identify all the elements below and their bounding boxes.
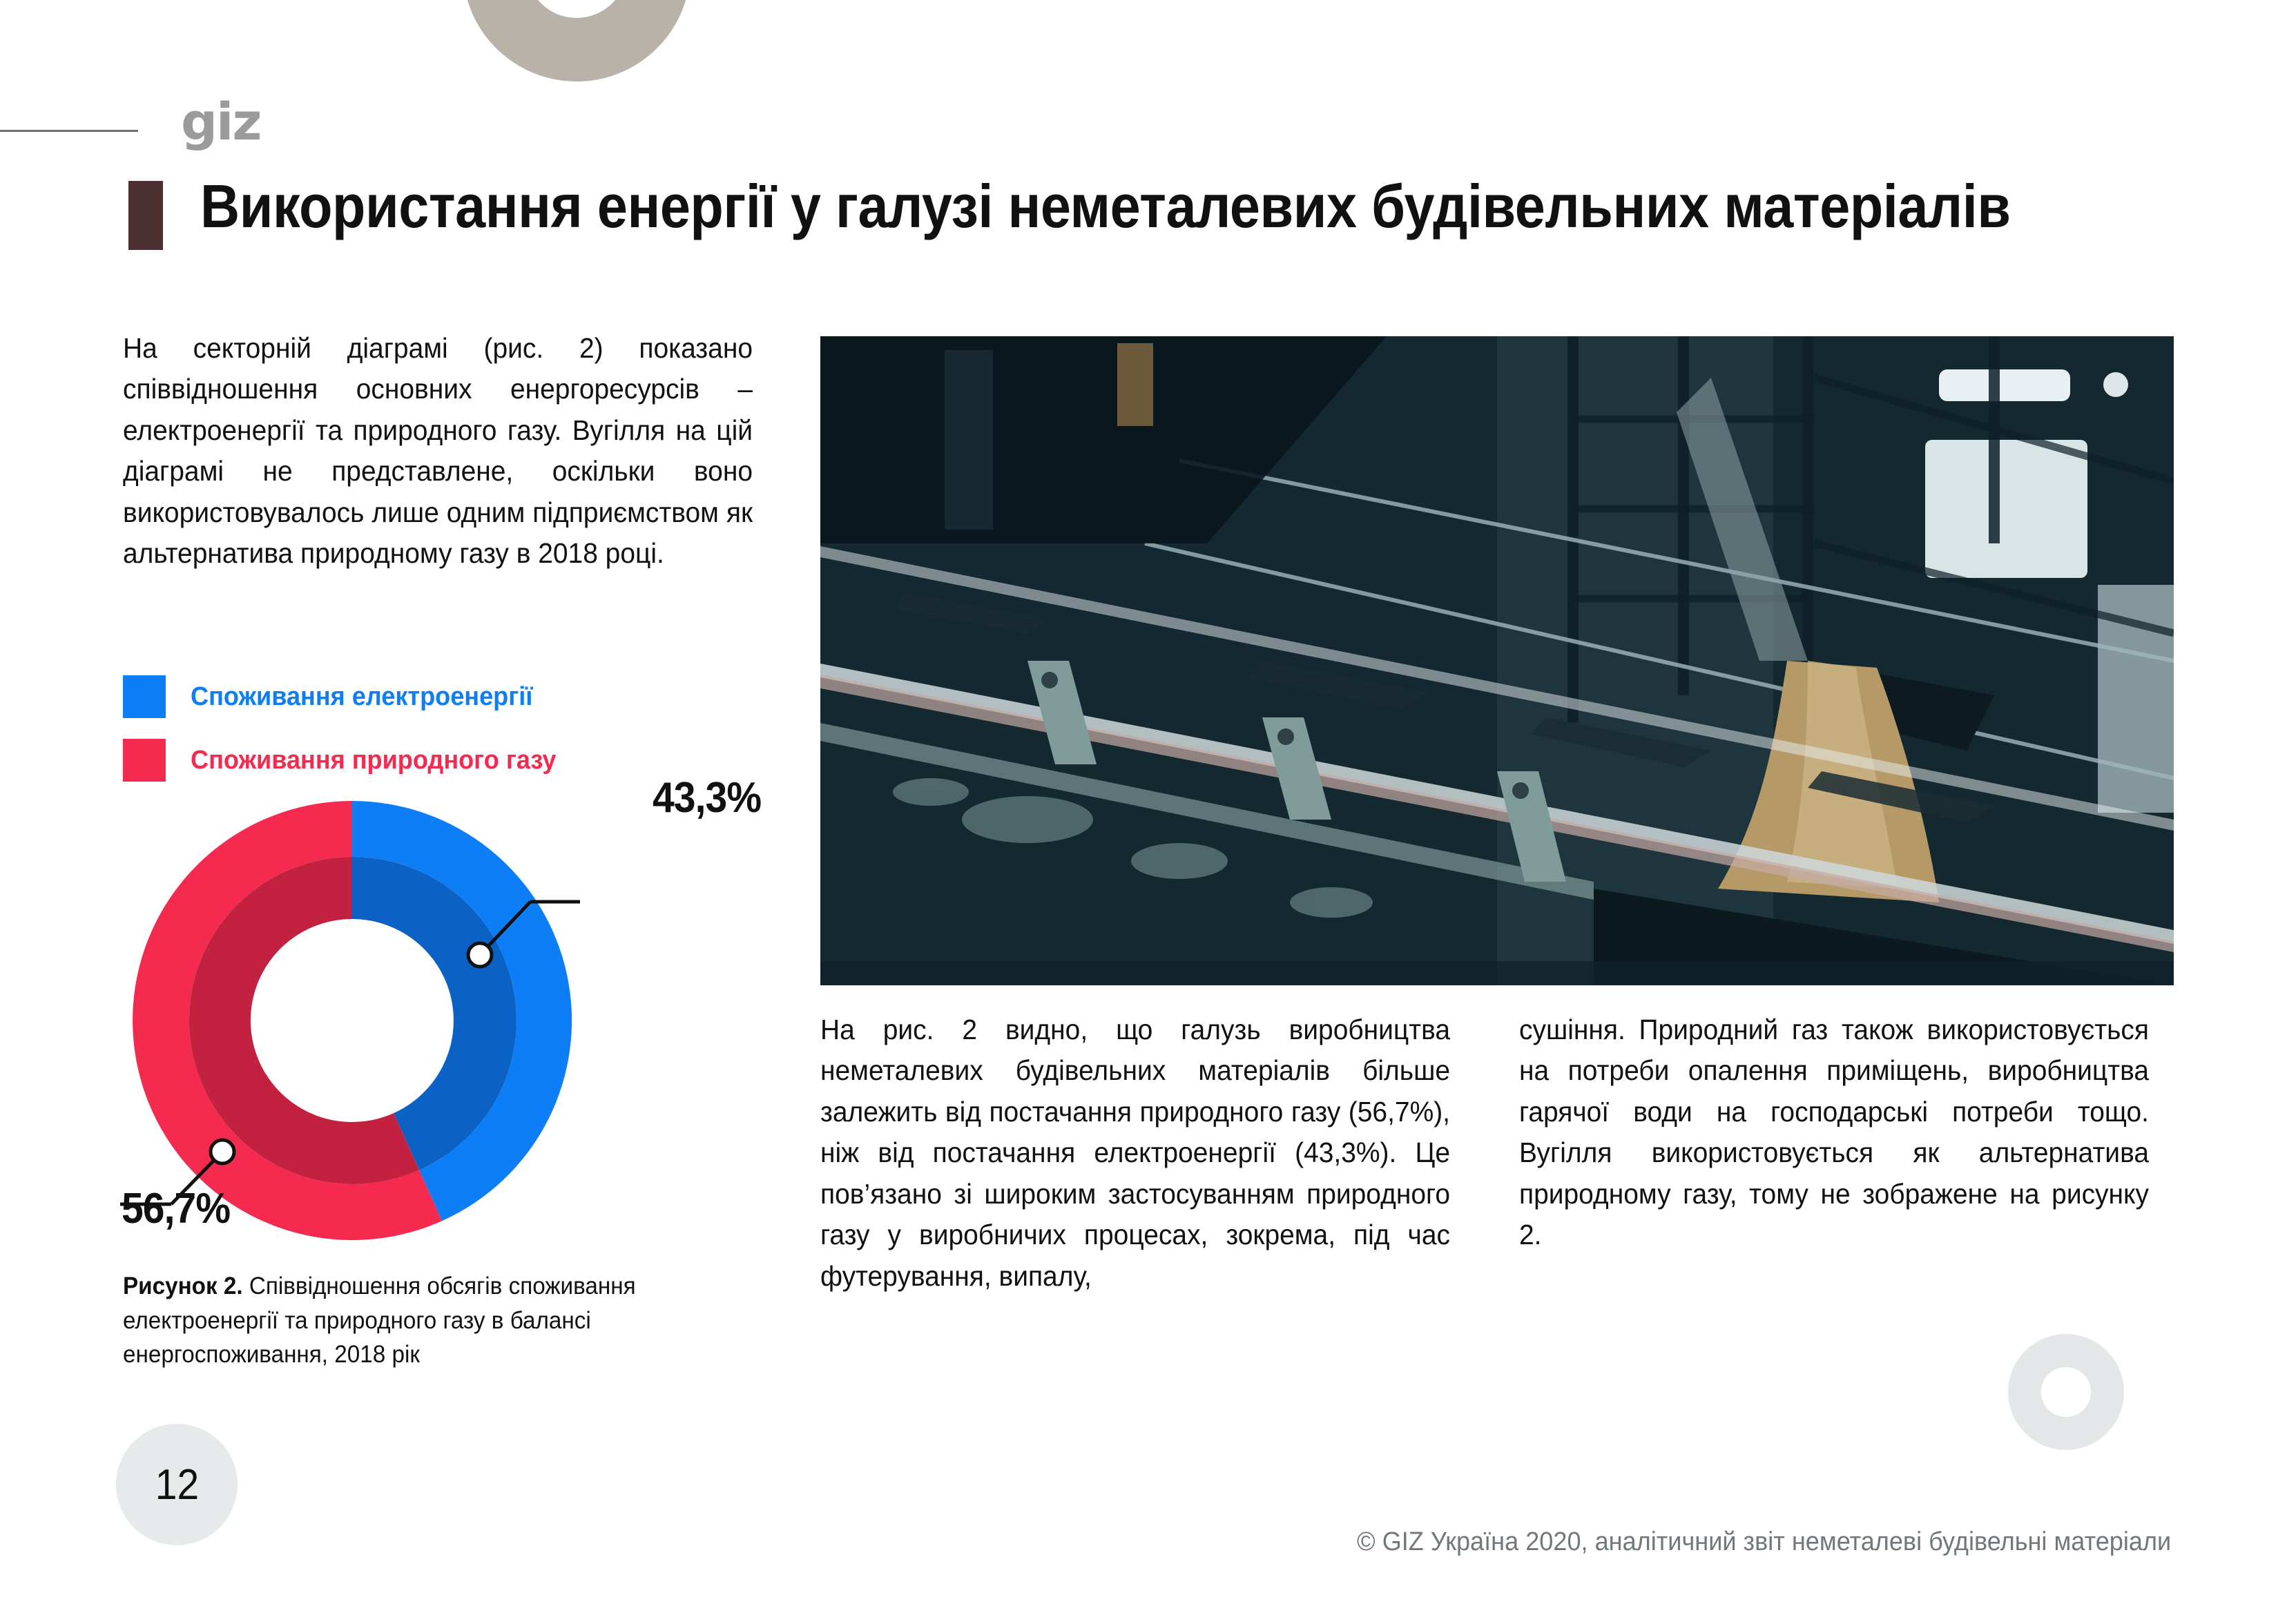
body-column-left: На рис. 2 видно, що галузь виробництва н…	[820, 1009, 1450, 1297]
photo-illustration	[820, 336, 2174, 985]
legend-swatch-gas	[123, 739, 166, 782]
legend-label-gas: Споживання природного газу	[191, 746, 557, 775]
giz-logo: giz	[181, 97, 260, 148]
legend-swatch-electricity	[123, 675, 166, 718]
body-column-right: сушіння. Природний газ також використову…	[1519, 1009, 2149, 1256]
footer-copyright: © GIZ Україна 2020, аналітичний звіт нем…	[1357, 1527, 2171, 1557]
conveyor-belt-photo	[820, 336, 2174, 985]
title-accent-bar	[128, 181, 163, 250]
legend-label-electricity: Споживання електроенергії	[191, 682, 532, 712]
figure-caption: Рисунок 2. Співвідношення обсягів спожив…	[123, 1269, 753, 1372]
legend-item-electricity: Споживання електроенергії	[123, 675, 551, 718]
decorative-ring-top	[463, 0, 691, 81]
chart-value-electricity: 43,3%	[653, 773, 761, 822]
intro-paragraph: На секторній діаграмі (рис. 2) показано …	[123, 328, 753, 574]
header-rule	[0, 130, 138, 132]
page-title: Використання енергії у галузі неметалеви…	[200, 175, 2011, 238]
page-number: 12	[155, 1460, 198, 1509]
chart-value-gas: 56,7%	[122, 1184, 230, 1233]
decorative-ring-bottom	[2008, 1334, 2124, 1450]
figure-caption-number: Рисунок 2.	[123, 1273, 243, 1299]
legend-item-gas: Споживання природного газу	[123, 739, 575, 782]
page-number-badge: 12	[116, 1424, 238, 1545]
